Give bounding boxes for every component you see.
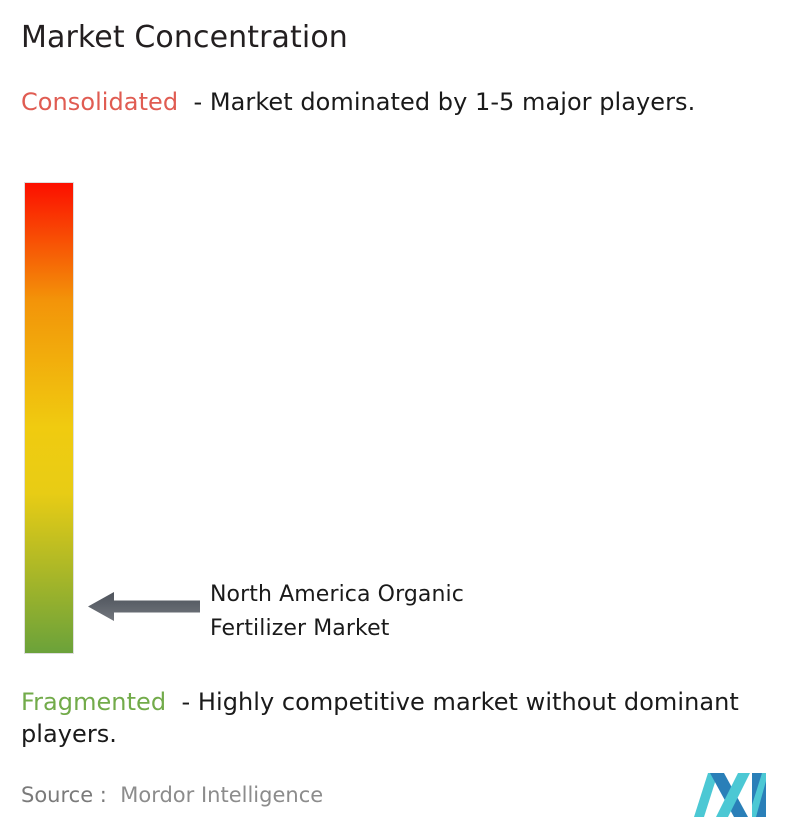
- mordor-intelligence-logo: [694, 769, 774, 817]
- market-concentration-chart: Market Concentration Consolidated - Mark…: [0, 0, 796, 834]
- left-arrow-icon: [88, 592, 200, 621]
- source-label: Source :: [21, 783, 107, 807]
- legend-consolidated-term: Consolidated: [21, 88, 178, 116]
- legend-consolidated-description: - Market dominated by 1-5 major players.: [194, 88, 696, 116]
- series-label-line-1: North America Organic: [210, 578, 610, 612]
- series-label: North America Organic Fertilizer Market: [210, 578, 610, 646]
- series-label-line-2: Fertilizer Market: [210, 612, 610, 646]
- page-title: Market Concentration: [21, 19, 348, 57]
- legend-consolidated: Consolidated - Market dominated by 1-5 m…: [21, 86, 773, 118]
- source-value: Mordor Intelligence: [120, 783, 323, 807]
- concentration-gradient-bar: [25, 183, 73, 653]
- legend-fragmented: Fragmented - Highly competitive market w…: [21, 686, 789, 750]
- legend-fragmented-term: Fragmented: [21, 688, 166, 716]
- source-line: Source : Mordor Intelligence: [21, 781, 323, 809]
